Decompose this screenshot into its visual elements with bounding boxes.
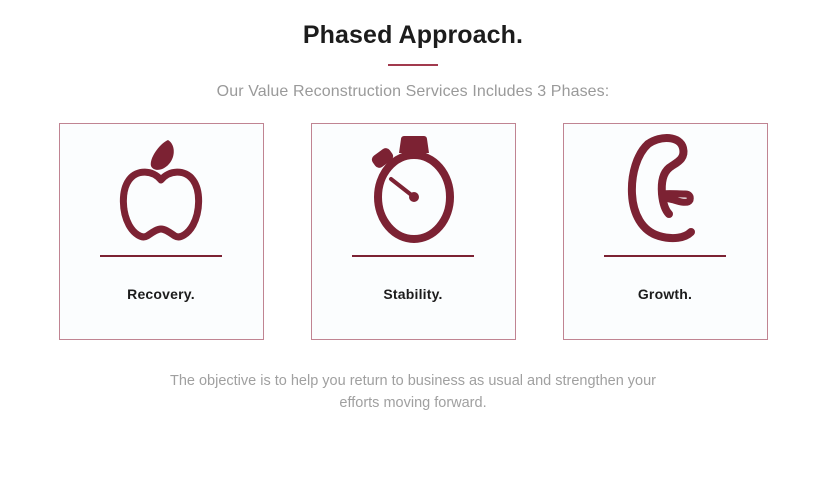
phase-card-label: Recovery. <box>127 286 195 302</box>
card-divider <box>604 255 726 257</box>
phase-card-list: Recovery. Stability. <box>0 123 826 340</box>
phase-card-recovery[interactable]: Recovery. <box>59 123 264 340</box>
title-accent-rule-wrapper <box>0 64 826 66</box>
phase-card-label: Growth. <box>638 286 692 302</box>
header: Phased Approach. Our Value Reconstructio… <box>0 0 826 101</box>
flexed-bicep-icon <box>617 128 713 253</box>
footer-line-1: The objective is to help you return to b… <box>0 370 826 392</box>
slide-root: Phased Approach. Our Value Reconstructio… <box>0 0 826 488</box>
footer-line-2: efforts moving forward. <box>0 392 826 414</box>
stopwatch-icon <box>363 128 463 253</box>
title-accent-rule <box>388 64 438 66</box>
page-title: Phased Approach. <box>0 22 826 50</box>
card-divider <box>352 255 474 257</box>
page-subtitle: Our Value Reconstruction Services Includ… <box>0 83 826 101</box>
apple-icon <box>113 128 209 253</box>
card-divider <box>100 255 222 257</box>
footer-note: The objective is to help you return to b… <box>0 370 826 415</box>
phase-card-growth[interactable]: Growth. <box>563 123 768 340</box>
phase-card-label: Stability. <box>383 286 442 302</box>
phase-card-stability[interactable]: Stability. <box>311 123 516 340</box>
